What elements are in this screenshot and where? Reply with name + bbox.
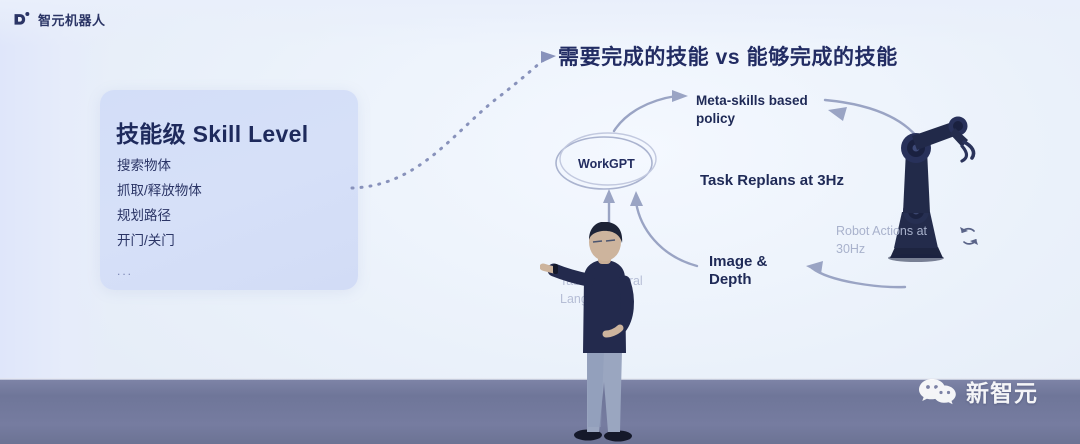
watermark: 新智元 [918, 374, 1038, 408]
wall-top-sheen [0, 0, 1080, 46]
skill-card-title: 技能级 Skill Level [116, 115, 308, 149]
slide-headline: 需要完成的技能 vs 能够完成的技能 [558, 41, 898, 71]
robot-actions-label: Robot Actions at 30Hz [836, 222, 927, 258]
list-item: 规划路径 [117, 203, 202, 228]
list-item-ellipsis: ... [117, 253, 202, 284]
presenter-shoe-right [604, 431, 632, 442]
presenter-hand [543, 267, 554, 270]
wechat-logo-icon [918, 376, 958, 406]
presenter-wristwatch [553, 264, 558, 274]
brand-logo: 智元机器人 [12, 10, 106, 29]
presenter-pointing-arm [554, 270, 588, 280]
brand-name: 智元机器人 [38, 10, 106, 29]
slide-screenshot: 智元机器人 技能级 Skill Level 搜索物体 抓取/释放物体 规划路径 … [0, 0, 1080, 444]
task-replans-label: Task Replans at 3Hz [700, 172, 844, 190]
presenter-person [540, 222, 660, 444]
list-item: 抓取/释放物体 [117, 178, 202, 203]
image-depth-label: Image & Depth [709, 253, 767, 289]
skill-level-card: 技能级 Skill Level 搜索物体 抓取/释放物体 规划路径 开门/关门 … [100, 90, 358, 290]
presenter-left-arm [620, 282, 627, 328]
robot-eye-logo-icon [12, 10, 31, 29]
workgpt-node-label: WorkGPT [578, 155, 635, 173]
watermark-text: 新智元 [966, 374, 1038, 408]
list-item: 开门/关门 [117, 228, 202, 253]
list-item: 搜索物体 [117, 153, 202, 178]
meta-skills-label: Meta-skills based policy [696, 92, 808, 128]
skill-list: 搜索物体 抓取/释放物体 规划路径 开门/关门 ... [117, 153, 202, 284]
